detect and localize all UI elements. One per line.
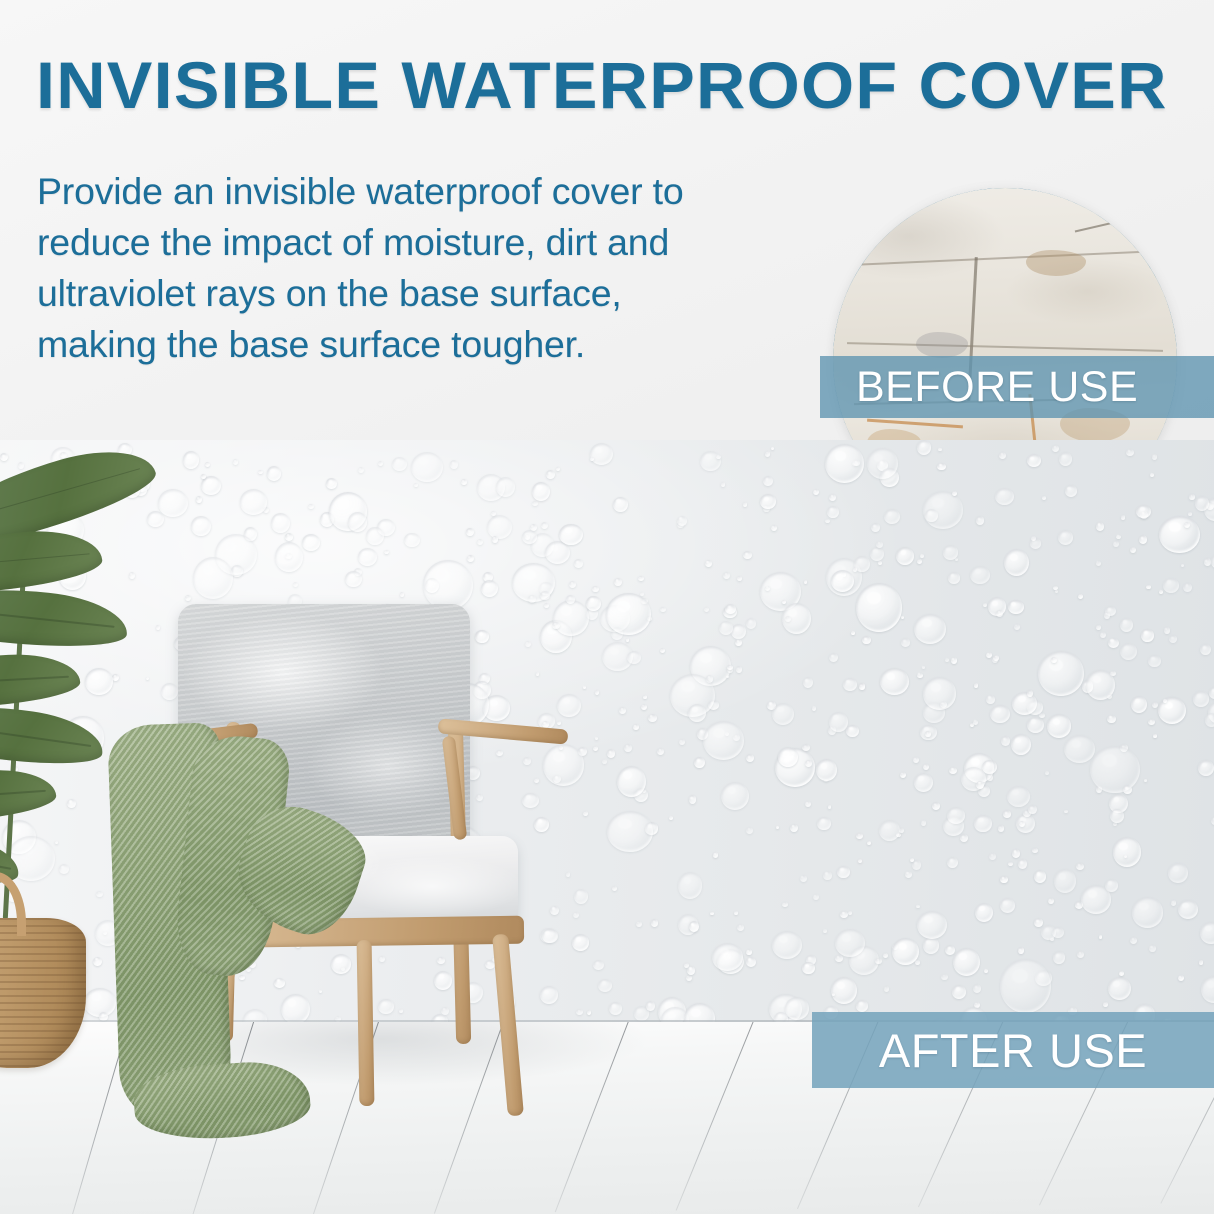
water-droplet (937, 463, 945, 471)
water-droplet (765, 586, 770, 591)
water-droplet (974, 815, 991, 833)
water-droplet (614, 578, 622, 587)
water-droplet (1209, 687, 1214, 699)
water-droplet (492, 536, 499, 543)
water-droplet (1104, 612, 1111, 619)
water-droplet (496, 477, 515, 497)
wooden-armchair (122, 604, 602, 1124)
water-droplet (1014, 624, 1020, 630)
water-droplet (782, 902, 788, 908)
water-droplet (905, 871, 913, 878)
water-droplet (532, 501, 537, 506)
water-droplet (825, 444, 864, 483)
water-droplet (689, 921, 700, 932)
water-droplet (943, 545, 959, 560)
room-scene (0, 440, 1214, 1214)
water-droplet (917, 440, 931, 455)
water-droplet (760, 494, 776, 509)
water-droplet (989, 853, 996, 860)
water-droplet (920, 554, 924, 558)
body-line-1: Provide an invisible waterproof cover to (37, 166, 827, 217)
water-droplet (1011, 734, 1031, 755)
water-droplet (859, 683, 866, 689)
water-droplet (846, 725, 859, 738)
after-use-label: AFTER USE (879, 1023, 1147, 1078)
water-droplet (1031, 536, 1036, 541)
water-droplet (782, 600, 786, 604)
water-droplet (574, 559, 583, 568)
water-droplet (1141, 629, 1154, 643)
water-droplet (326, 478, 336, 489)
water-droplet (617, 766, 646, 797)
water-droplet (816, 759, 837, 781)
before-use-label: BEFORE USE (856, 363, 1138, 412)
water-droplet (678, 872, 702, 898)
water-droplet (1163, 578, 1179, 593)
body-line-2: reduce the impact of moisture, dirt and (37, 217, 827, 268)
water-droplet (776, 826, 779, 829)
water-droplet (951, 657, 958, 663)
water-droplet (1052, 927, 1064, 938)
water-droplet (884, 986, 889, 991)
water-droplet (804, 580, 808, 584)
water-droplet (812, 706, 817, 711)
water-droplet (1132, 897, 1164, 928)
water-droplet (1110, 809, 1124, 824)
water-droplet (851, 631, 855, 635)
water-droplet (592, 586, 598, 593)
water-droplet (1193, 691, 1209, 706)
water-droplet (660, 648, 665, 653)
water-droplet (633, 724, 639, 730)
water-droplet (703, 721, 744, 760)
water-droplet (1171, 900, 1177, 905)
water-droplet (856, 833, 863, 839)
water-droplet (1121, 515, 1126, 519)
water-droplet (999, 452, 1006, 459)
water-droplet (710, 912, 713, 915)
water-droplet (559, 524, 582, 545)
water-droplet (1012, 849, 1020, 858)
water-droplet (491, 511, 496, 516)
water-droplet (1059, 452, 1072, 466)
water-droplet (1195, 496, 1209, 511)
water-droplet (867, 448, 898, 479)
chair-leg-front-right (492, 934, 524, 1117)
water-droplet (953, 948, 980, 976)
water-droplet (640, 592, 644, 596)
water-droplet (590, 457, 594, 462)
water-droplet (366, 527, 383, 545)
water-droplet (998, 825, 1005, 831)
water-droplet (856, 583, 902, 632)
water-droplet (1199, 960, 1203, 964)
water-droplet (404, 533, 419, 547)
water-droplet (687, 966, 695, 975)
water-droplet (746, 957, 756, 967)
water-droplet (481, 580, 498, 597)
water-droplet (1120, 643, 1137, 661)
water-droplet (835, 955, 843, 963)
water-droplet (1050, 937, 1054, 940)
water-droplet (823, 871, 832, 880)
water-droplet (1003, 810, 1011, 817)
water-droplet (400, 592, 405, 596)
water-droplet (923, 677, 957, 709)
water-droplet (1200, 644, 1210, 655)
water-droplet (712, 943, 743, 971)
water-droplet (1000, 959, 1051, 1014)
water-droplet (1183, 583, 1192, 592)
water-droplet (590, 443, 613, 465)
water-droplet (302, 534, 320, 551)
water-droplet (772, 703, 794, 725)
water-droplet (843, 678, 857, 691)
water-droplet (679, 739, 685, 745)
water-droplet (607, 811, 653, 852)
water-droplet (1096, 625, 1101, 630)
water-droplet (1090, 746, 1140, 794)
water-droplet (1148, 655, 1161, 667)
water-droplet (1103, 1002, 1108, 1007)
water-droplet (765, 451, 771, 457)
water-droplet (721, 782, 749, 810)
water-droplet (688, 704, 706, 722)
water-droplet (987, 774, 993, 780)
water-droplet (880, 668, 909, 695)
water-droplet (677, 516, 688, 526)
water-droplet (1052, 445, 1059, 452)
water-droplet (467, 555, 474, 562)
water-droplet (771, 525, 777, 531)
water-droplet (423, 560, 473, 610)
water-droplet (835, 929, 865, 957)
water-droplet (805, 801, 811, 807)
water-droplet (763, 476, 772, 486)
water-droplet (240, 489, 268, 514)
water-droplet (1027, 717, 1044, 733)
water-droplet (746, 949, 751, 954)
water-droplet (1205, 713, 1214, 727)
water-droplet (1053, 951, 1065, 964)
water-droplet (1184, 522, 1190, 528)
water-droplet (974, 683, 978, 687)
poster-root: INVISIBLE WATERPROOF COVER Provide an in… (0, 0, 1214, 1214)
water-droplet (1188, 512, 1192, 516)
water-droplet (975, 903, 993, 922)
water-droplet (641, 704, 647, 710)
water-droplet (1065, 485, 1077, 497)
water-droplet (884, 509, 900, 524)
after-use-banner: AFTER USE (812, 1012, 1214, 1088)
water-droplet (856, 1000, 868, 1012)
water-droplet (466, 528, 473, 536)
water-droplet (384, 550, 389, 555)
water-droplet (648, 714, 657, 722)
water-droplet (876, 541, 883, 548)
water-droplet (1123, 785, 1132, 794)
water-droplet (624, 744, 632, 752)
water-droplet (1204, 558, 1211, 565)
water-droplet (285, 533, 294, 541)
water-droplet (293, 582, 298, 587)
water-droplet (734, 911, 738, 915)
water-droplet (1113, 837, 1142, 867)
water-droplet (1027, 454, 1041, 467)
water-droplet (1001, 736, 1011, 746)
water-droplet (1028, 805, 1037, 814)
water-droplet (914, 614, 946, 644)
before-use-badge: BEFORE USE (833, 188, 1177, 442)
water-droplet (917, 911, 947, 940)
water-droplet (1153, 734, 1157, 738)
water-droplet (875, 958, 882, 964)
water-droplet (948, 572, 961, 584)
water-droplet (1108, 977, 1131, 1000)
header-body-copy: Provide an invisible waterproof cover to… (37, 166, 827, 370)
water-droplet (1139, 535, 1147, 544)
water-droplet (992, 657, 998, 663)
water-droplet (569, 581, 576, 588)
water-droplet (1096, 561, 1101, 566)
water-droplet (1048, 898, 1054, 904)
water-droplet (271, 513, 290, 533)
water-droplet (912, 860, 921, 870)
water-droplet (414, 483, 417, 487)
water-droplet (1051, 657, 1057, 663)
body-line-3: ultraviolet rays on the base surface, (37, 268, 827, 319)
water-droplet (803, 677, 813, 688)
water-droplet (737, 924, 744, 931)
water-droplet (1189, 494, 1195, 499)
water-droplet (1096, 522, 1105, 531)
water-droplet (913, 757, 919, 763)
chair-leg-rear (357, 940, 375, 1106)
water-droplet (800, 875, 807, 882)
water-droplet (945, 658, 949, 662)
water-droplet (976, 516, 984, 525)
water-droplet (743, 502, 748, 507)
water-droplet (461, 479, 468, 485)
water-droplet (899, 828, 904, 833)
water-droplet (1078, 594, 1083, 599)
water-droplet (785, 616, 791, 622)
water-droplet (990, 705, 1009, 723)
water-droplet (626, 638, 630, 642)
water-droplet (1113, 541, 1119, 547)
water-droplet (1038, 651, 1085, 697)
water-droplet (1126, 449, 1133, 456)
water-droplet (651, 919, 658, 926)
water-droplet (1064, 735, 1095, 763)
water-droplet (450, 460, 458, 469)
header-section: INVISIBLE WATERPROOF COVER Provide an in… (0, 0, 1214, 442)
water-droplet (970, 566, 990, 585)
water-droplet (746, 827, 753, 834)
water-droplet (871, 523, 880, 533)
water-droplet (1008, 862, 1012, 866)
water-droplet (932, 802, 940, 809)
water-droplet (901, 638, 911, 647)
water-droplet (1164, 627, 1171, 634)
water-droplet (1034, 870, 1046, 883)
water-droplet (522, 530, 537, 544)
water-droplet (817, 817, 830, 831)
water-droplet (1159, 516, 1200, 553)
water-droplet (643, 695, 646, 699)
water-droplet (669, 816, 673, 820)
water-droplet (1107, 715, 1116, 723)
water-droplet (900, 772, 906, 778)
water-droplet (923, 937, 939, 953)
water-droplet (813, 894, 819, 900)
water-droplet (1007, 786, 1030, 807)
water-droplet (925, 731, 930, 736)
water-droplet (938, 448, 941, 451)
water-droplet (657, 748, 664, 756)
water-droplet (829, 712, 848, 732)
water-droplet (736, 666, 742, 673)
water-droplet (1081, 885, 1111, 914)
water-droplet (941, 974, 948, 981)
water-droplet (735, 639, 742, 646)
water-droplet (996, 610, 1003, 617)
water-droplet (636, 921, 642, 928)
water-droplet (275, 542, 303, 572)
water-droplet (1200, 922, 1214, 944)
water-droplet (829, 653, 838, 662)
water-droplet (258, 470, 263, 474)
before-use-label-band: BEFORE USE (820, 356, 1214, 418)
water-droplet (947, 807, 965, 823)
water-droplet (853, 567, 858, 572)
water-droplet (922, 666, 925, 669)
water-droplet (827, 506, 838, 518)
water-droplet (1008, 600, 1024, 615)
water-droplet (917, 673, 923, 679)
water-droplet (1055, 590, 1058, 593)
water-droplet (602, 759, 607, 764)
water-droplet (772, 931, 802, 959)
water-droplet (914, 773, 933, 792)
water-droplet (986, 695, 995, 704)
water-droplet (613, 497, 629, 512)
water-droplet (378, 461, 383, 466)
water-droplet (606, 593, 650, 635)
water-droplet (358, 548, 378, 566)
water-droplet (1146, 585, 1150, 589)
water-droplet (1178, 900, 1198, 919)
water-droplet (713, 852, 719, 857)
water-droplet (1159, 590, 1163, 594)
water-droplet (348, 512, 367, 531)
water-droplet (612, 886, 617, 892)
water-droplet (1018, 859, 1027, 869)
water-droplet (686, 975, 692, 981)
page-title: INVISIBLE WATERPROOF COVER (36, 52, 1214, 118)
water-droplet (848, 911, 853, 915)
water-droplet (345, 571, 362, 587)
water-droplet (831, 570, 854, 592)
body-line-4: making the base surface tougher. (37, 319, 827, 370)
water-droplet (1131, 696, 1147, 713)
water-droplet (737, 576, 742, 581)
water-droplet (566, 595, 575, 603)
water-droplet (689, 795, 697, 804)
water-droplet (823, 929, 827, 933)
water-droplet (790, 824, 798, 832)
